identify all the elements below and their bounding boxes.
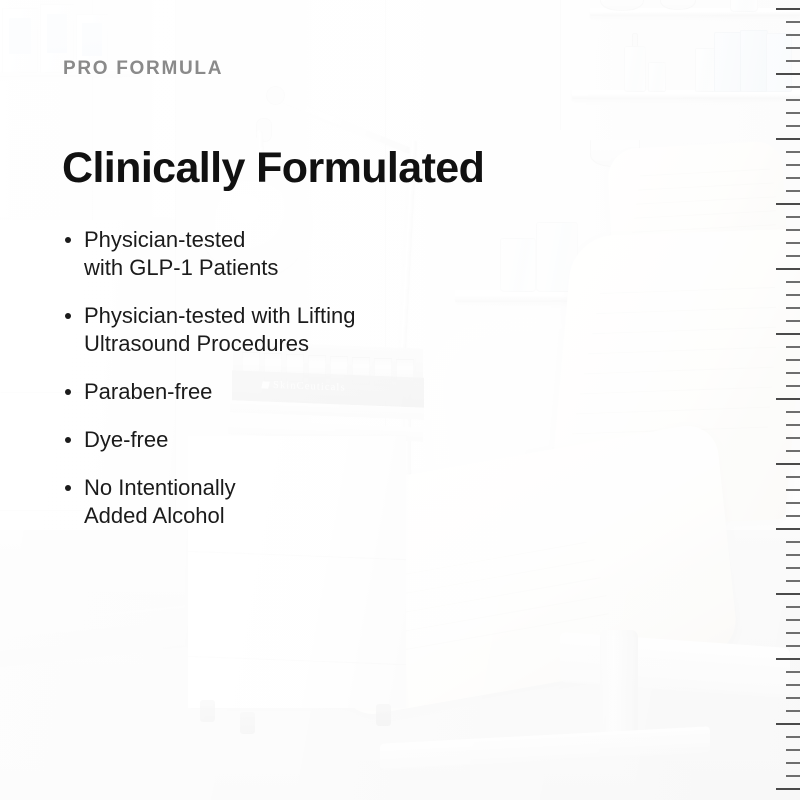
ruler-tick-major [776, 398, 800, 400]
ruler-tick-minor [786, 164, 800, 166]
ruler-tick-minor [786, 385, 800, 387]
ruler-tick-minor [786, 697, 800, 699]
ruler-tick-minor [786, 47, 800, 49]
ruler-tick-minor [786, 216, 800, 218]
product-box-label [9, 18, 31, 55]
bullet-dot-icon [65, 313, 71, 319]
ruler-tick-minor [786, 359, 800, 361]
ruler-tick-minor [786, 346, 800, 348]
ruler-tick-minor [786, 60, 800, 62]
ruler-tick-minor [786, 502, 800, 504]
ruler-tick-minor [786, 580, 800, 582]
ruler-tick-minor [786, 151, 800, 153]
ruler-tick-minor [786, 749, 800, 751]
feature-text-line1: No Intentionally [84, 475, 236, 500]
ruler-tick-minor [786, 437, 800, 439]
ruler-tick-minor [786, 671, 800, 673]
ruler-tick-minor [786, 229, 800, 231]
page-title: Clinically Formulated [62, 144, 484, 193]
ruler-tick-major [776, 73, 800, 75]
feature-text-line2: Ultrasound Procedures [84, 330, 462, 358]
wall-seam-4 [560, 0, 561, 130]
feature-text-line1: Physician-tested [84, 227, 245, 252]
ruler-scale [774, 0, 800, 800]
ruler-tick-major [776, 788, 800, 790]
ruler-tick-minor [786, 34, 800, 36]
ruler-tick-minor [786, 372, 800, 374]
ruler-tick-major [776, 333, 800, 335]
ruler-tick-minor [786, 775, 800, 777]
shelf-carton-2 [740, 30, 768, 92]
chair-hydraulic-column [600, 630, 638, 742]
trolley-caster [240, 712, 255, 734]
bullet-dot-icon [65, 237, 71, 243]
ruler-tick-minor [786, 99, 800, 101]
ruler-tick-minor [786, 177, 800, 179]
promo-card: SkinCeuticals PRO FORMULA Clinically For… [0, 0, 800, 800]
shelf-carton-1 [714, 32, 742, 92]
ruler-tick-minor [786, 112, 800, 114]
feature-list-item: Paraben-free [62, 378, 462, 406]
ruler-tick-minor [786, 541, 800, 543]
ruler-tick-minor [786, 320, 800, 322]
ruler-tick-minor [786, 736, 800, 738]
feature-list-item: Physician-tested with LiftingUltrasound … [62, 302, 462, 358]
ruler-tick-minor [786, 190, 800, 192]
ruler-tick-minor [786, 606, 800, 608]
bullet-dot-icon [65, 389, 71, 395]
trolley-caster [376, 704, 391, 726]
trolley-caster [200, 700, 215, 722]
product-box-label [47, 14, 68, 53]
shelf-dropper-bottle [624, 46, 646, 92]
ruler-tick-major [776, 138, 800, 140]
lamp-joint-top [266, 86, 285, 105]
ruler-tick-minor [786, 554, 800, 556]
ruler-tick-major [776, 203, 800, 205]
feature-list-item: Physician-testedwith GLP-1 Patients [62, 226, 462, 282]
ruler-tick-minor [786, 619, 800, 621]
ruler-tick-minor [786, 476, 800, 478]
ruler-tick-minor [786, 86, 800, 88]
ruler-tick-minor [786, 255, 800, 257]
ruler-tick-minor [786, 411, 800, 413]
counter-jar-2 [500, 238, 536, 292]
ruler-tick-major [776, 528, 800, 530]
ruler-tick-major [776, 8, 800, 10]
ruler-tick-major [776, 463, 800, 465]
ruler-tick-minor [786, 567, 800, 569]
eyebrow-label: PRO FORMULA [63, 58, 223, 80]
ruler-tick-minor [786, 294, 800, 296]
ruler-tick-minor [786, 125, 800, 127]
feature-text-line1: Dye-free [84, 427, 168, 452]
ruler-tick-minor [786, 424, 800, 426]
feature-list-item: Dye-free [62, 426, 462, 454]
ruler-tick-minor [786, 710, 800, 712]
bullet-dot-icon [65, 485, 71, 491]
feature-text-line2: Added Alcohol [84, 502, 462, 530]
ruler-tick-minor [786, 684, 800, 686]
ruler-tick-major [776, 268, 800, 270]
feature-text-line1: Paraben-free [84, 379, 212, 404]
ruler-tick-minor [786, 632, 800, 634]
ruler-tick-major [776, 658, 800, 660]
product-box-label [82, 23, 101, 56]
ruler-tick-minor [786, 450, 800, 452]
ruler-tick-major [776, 723, 800, 725]
ruler-tick-major [776, 593, 800, 595]
ruler-tick-minor [786, 762, 800, 764]
feature-text-line1: Physician-tested with Lifting [84, 303, 355, 328]
ruler-tick-minor [786, 21, 800, 23]
ruler-tick-minor [786, 281, 800, 283]
ruler-tick-minor [786, 307, 800, 309]
ruler-tick-minor [786, 242, 800, 244]
ruler-tick-minor [786, 515, 800, 517]
bullet-dot-icon [65, 437, 71, 443]
ruler-tick-minor [786, 645, 800, 647]
feature-list: Physician-testedwith GLP-1 PatientsPhysi… [62, 226, 462, 550]
feature-text-line2: with GLP-1 Patients [84, 254, 462, 282]
ruler-tick-minor [786, 489, 800, 491]
shelf-bottle-2 [648, 62, 666, 92]
feature-list-item: No IntentionallyAdded Alcohol [62, 474, 462, 530]
shelf-bottle-1 [730, 0, 758, 12]
product-box-1 [2, 8, 38, 73]
